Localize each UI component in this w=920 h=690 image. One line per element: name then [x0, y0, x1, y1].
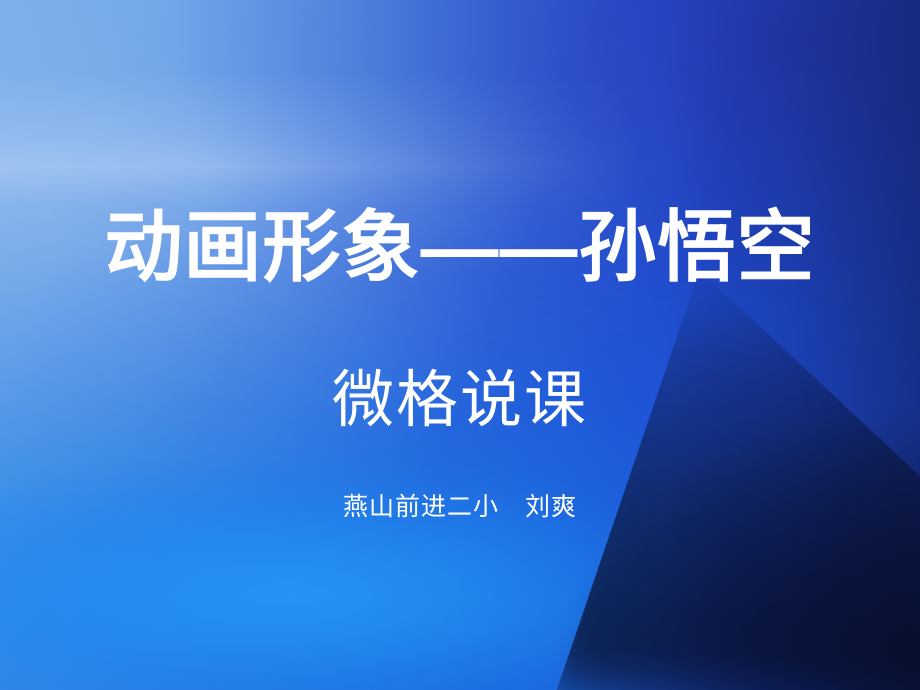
slide-content: 动画形象——孙悟空 微格说课 燕山前进二小 刘爽 [0, 0, 920, 690]
slide-subtitle: 微格说课 [0, 368, 920, 433]
slide-title: 动画形象——孙悟空 [0, 208, 920, 288]
presentation-slide: 动画形象——孙悟空 微格说课 燕山前进二小 刘爽 [0, 0, 920, 690]
slide-byline: 燕山前进二小 刘爽 [0, 492, 920, 522]
